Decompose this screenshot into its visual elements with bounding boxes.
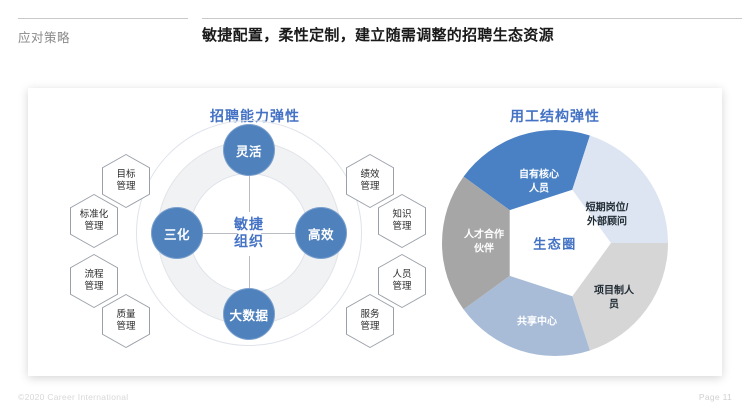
hexagon-standardization-management[interactable]: 标准化 管理 (70, 194, 118, 248)
donut-label-project: 项目制人员 (594, 285, 634, 312)
hexagon-line-1: 质量 (116, 309, 135, 321)
hexagon-service-management[interactable]: 服务 管理 (346, 294, 394, 348)
hexagon-line-2: 管理 (84, 281, 103, 293)
donut-label-shortterm: 短期岗位/外部顾问 (586, 202, 629, 229)
diagram-core-label: 敏捷 组织 (189, 173, 309, 293)
hexagon-label: 标准化 管理 (71, 195, 117, 247)
core-line-2: 组织 (234, 233, 264, 251)
hexagon-line-1: 绩效 (360, 169, 379, 181)
hexagon-label: 服务 管理 (347, 295, 393, 347)
hexagon-line-2: 管理 (360, 321, 379, 333)
donut-label-line-1: 项目制人 (594, 285, 634, 299)
hexagon-line-1: 标准化 (80, 209, 109, 221)
donut-label-line-1: 自有核心 (519, 169, 559, 183)
donut-label-line-1: 共享中心 (517, 315, 557, 329)
slide: 应对策略 敏捷配置，柔性定制，建立随需调整的招聘生态资源 招聘能力弹性 用工结构… (0, 0, 750, 419)
slide-footer: ©2020 Career International Page 11 (0, 392, 750, 412)
donut-label-line-1: 短期岗位/ (586, 202, 629, 216)
hexagon-line-1: 流程 (84, 269, 103, 281)
node-sanhua[interactable]: 三化 (151, 207, 203, 259)
donut-label-line-1: 人才合作 (464, 229, 504, 243)
header-kicker: 应对策略 (18, 27, 70, 46)
donut-label-line-2: 员 (594, 298, 634, 312)
donut-center-label: 生态圈 (533, 234, 577, 253)
header-rule-right (202, 18, 742, 19)
hexagon-line-2: 管理 (84, 221, 103, 233)
hexagon-quality-management[interactable]: 质量 管理 (102, 294, 150, 348)
node-bigdata[interactable]: 大数据 (223, 288, 275, 340)
hexagon-line-2: 管理 (116, 181, 135, 193)
node-flexible[interactable]: 灵活 (223, 124, 275, 176)
hexagon-label: 质量 管理 (103, 295, 149, 347)
hexagon-line-1: 知识 (392, 209, 411, 221)
donut-label-line-2: 伙伴 (464, 242, 504, 256)
donut-label-core: 自有核心人员 (519, 169, 559, 196)
core-line-1: 敏捷 (234, 216, 264, 234)
hexagon-line-2: 管理 (360, 181, 379, 193)
hexagon-knowledge-management[interactable]: 知识 管理 (378, 194, 426, 248)
hexagon-line-1: 人员 (392, 269, 411, 281)
header-headline: 敏捷配置，柔性定制，建立随需调整的招聘生态资源 (202, 24, 554, 45)
employment-structure-chart: 生态圈 自有核心人员短期岗位/外部顾问项目制人员共享中心人才合作伙伴 (442, 130, 668, 356)
node-efficient[interactable]: 高效 (295, 207, 347, 259)
hexagon-line-2: 管理 (116, 321, 135, 333)
hexagon-label: 知识 管理 (379, 195, 425, 247)
donut-label-shared: 共享中心 (517, 315, 557, 329)
slide-header: 应对策略 敏捷配置，柔性定制，建立随需调整的招聘生态资源 (0, 0, 750, 68)
donut-label-partner: 人才合作伙伴 (464, 229, 504, 256)
hexagon-line-1: 目标 (116, 169, 135, 181)
recruiting-capability-diagram: 敏捷 组织 灵活 高效 大数据 三化 目标 管理 标准化 管理 (84, 136, 414, 366)
hexagon-line-2: 管理 (392, 221, 411, 233)
footer-page-number: Page 11 (699, 392, 732, 402)
hexagon-line-1: 服务 (360, 309, 379, 321)
header-rule-left (18, 18, 188, 19)
hexagon-line-2: 管理 (392, 281, 411, 293)
content-card: 招聘能力弹性 用工结构弹性 敏捷 组织 灵活 高效 大数据 三化 目标 (28, 88, 722, 376)
donut-label-line-2: 人员 (519, 182, 559, 196)
footer-copyright: ©2020 Career International (18, 392, 128, 402)
right-panel-title: 用工结构弹性 (510, 106, 600, 126)
donut-label-line-2: 外部顾问 (586, 215, 629, 229)
